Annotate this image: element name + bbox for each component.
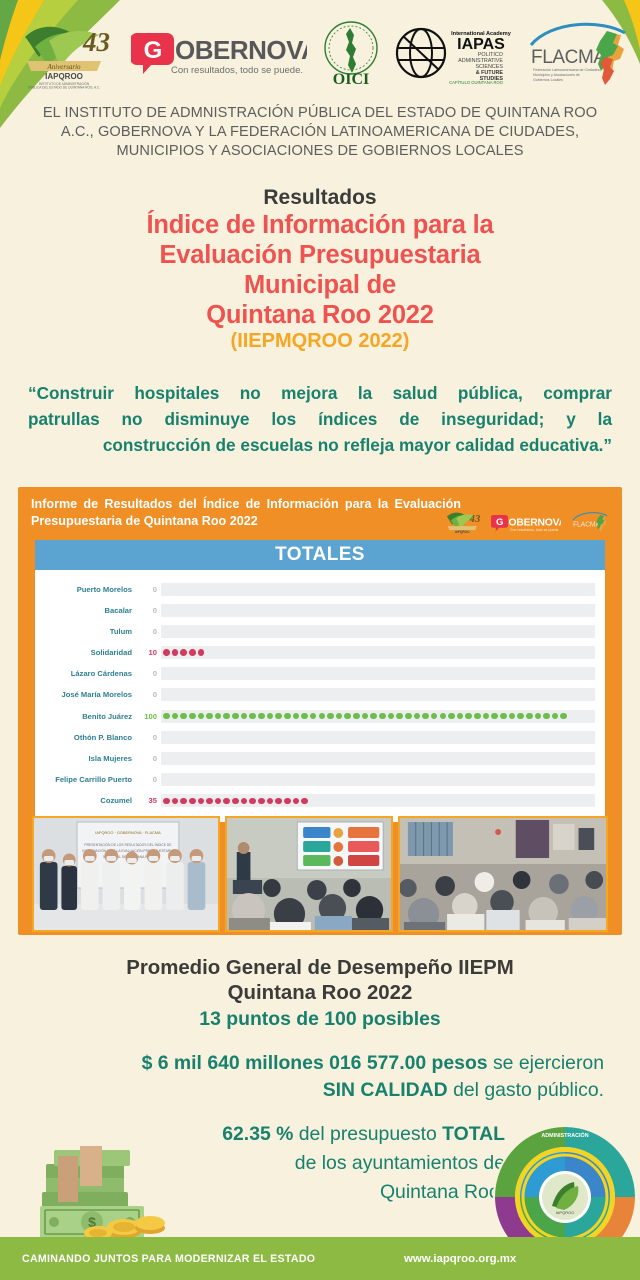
chart-row-label: Cozumel [41,796,139,805]
chart-row: Felipe Carrillo Puerto0 [41,771,595,789]
chart-dot [327,713,334,720]
chart-row-label: Othón P. Blanco [41,733,139,742]
svg-text:Aniversario: Aniversario [46,63,81,71]
chart-dot [172,649,179,656]
oici-logo: OICI [321,18,381,88]
chart-dot [465,713,472,720]
svg-text:IAPQROO: IAPQROO [45,72,83,81]
chart-row-dots [163,794,308,807]
chart-dot [215,798,222,805]
chart-row-track [161,752,595,765]
chart-dot [552,713,559,720]
report-card-header-text: Informe de Resultados del Índice de Info… [31,496,461,530]
chart-row-value: 0 [139,733,161,742]
chart-row-value: 0 [139,754,161,763]
dot-chart: Puerto Morelos0Bacalar0Tulum0Solidaridad… [35,570,605,822]
chart-row-track [161,773,595,786]
svg-text:OBERNOVA: OBERNOVA [509,517,562,528]
chart-row-label: Benito Juárez [41,712,139,721]
report-card-header: Informe de Resultados del Índice de Info… [21,490,619,540]
money-stack-icon: $ [28,1128,173,1248]
chart-row-label: Isla Mujeres [41,754,139,763]
chart-dot [431,713,438,720]
chart-dot [163,649,170,656]
percent-statement: 62.35 % del presupuesto TOTAL de los ayu… [150,1120,505,1207]
chart-row-label: José María Morelos [41,690,139,699]
chart-dot [284,798,291,805]
chart-row: Bacalar0 [41,601,595,619]
percent-value: 62.35 % [222,1123,293,1145]
chart-dot [198,649,205,656]
chart-dot [509,713,516,720]
photo-audience-seated [398,816,608,932]
chart-dot [336,713,343,720]
pull-quote: “Construir hospitales no mejora la salud… [28,380,612,458]
chart-row-label: Lázaro Cárdenas [41,669,139,678]
chart-dot [189,649,196,656]
chart-dot [232,798,239,805]
money-amount: $ 6 mil 640 millones 016 577.00 pesos [142,1052,488,1074]
chart-row-track [161,646,595,659]
svg-text:G: G [496,517,503,528]
percent-mid: del presupuesto [293,1123,442,1145]
chart-dot [526,713,533,720]
average-score: 13 puntos de 100 posibles [0,1006,640,1033]
chart-dot [206,713,213,720]
chart-row-label: Tulum [41,627,139,636]
chart-dot [344,713,351,720]
average-line-1: Promedio General de Desempeño IIEPM [0,956,640,981]
chart-row: Isla Mujeres0 [41,750,595,768]
chart-dot [267,798,274,805]
chart-dot [448,713,455,720]
quote-line-3: construcción de escuelas no refleja mayo… [28,432,612,458]
svg-text:43: 43 [469,514,481,525]
svg-text:IAPQROO · GOBERNOVA · FLACMA: IAPQROO · GOBERNOVA · FLACMA [95,830,161,835]
chart-dot [284,713,291,720]
percent-line-1: 62.35 % del presupuesto TOTAL [150,1120,505,1149]
footer-website[interactable]: www.iapqroo.org.mx [404,1253,516,1265]
chart-row-value: 0 [139,669,161,678]
chart-dot [388,713,395,720]
svg-text:FLACMA: FLACMA [531,47,606,68]
chart-row-value: 0 [139,585,161,594]
svg-text:G: G [144,37,163,64]
report-header-line-2: Presupuestaria de Quintana Roo 2022 [31,513,461,530]
chart-dot [180,649,187,656]
chart-rows-container: Puerto Morelos0Bacalar0Tulum0Solidaridad… [41,580,595,810]
chart-dot [215,713,222,720]
svg-text:IAPAS: IAPAS [457,36,505,53]
chart-row-value: 0 [139,690,161,699]
iapqroo-43-logo-small: 43 IAPQROO [439,508,483,538]
title-line-1: Índice de Información para la [0,210,640,240]
chart-row-label: Bacalar [41,606,139,615]
chart-row: Tulum0 [41,622,595,640]
chart-dot [275,713,282,720]
svg-text:PÚBLICA DEL ESTADO DE QUINTANA: PÚBLICA DEL ESTADO DE QUINTANA ROO, A.C. [28,85,100,90]
iapas-logo: International Academy IAPAS POLITICO ADM… [395,22,513,84]
totales-banner-label: TOTALES [275,544,365,566]
chart-dot [293,713,300,720]
chart-dot [422,713,429,720]
infographic-poster: 43 Aniversario IAPQROO INSTITUTO DE ADMI… [0,0,640,1280]
chart-dot [405,713,412,720]
photo-audience-presentation [225,816,393,932]
chart-row-label: Solidaridad [41,648,139,657]
flacma-logo-small: FLACMA [569,510,613,536]
svg-text:Municipios y Asociaciones de: Municipios y Asociaciones de [533,73,580,77]
chart-dot [172,713,179,720]
title-line-2: Evaluación Presupuestaria [0,240,640,270]
chart-dot [223,798,230,805]
svg-text:Gobiernos Locales: Gobiernos Locales [533,78,563,82]
chart-dot [163,713,170,720]
chart-row-track [161,731,595,744]
percent-line-2: de los ayuntamientos de [150,1149,505,1178]
chart-row-track [161,625,595,638]
chart-dot [258,713,265,720]
iapqroo-43-logo: 43 Aniversario IAPQROO INSTITUTO DE ADMI… [5,17,117,89]
svg-text:INFORMACIÓN PARA LA EVALUACIÓN: INFORMACIÓN PARA LA EVALUACIÓN PRESUPUES… [82,848,174,853]
event-photo-strip: IAPQROO · GOBERNOVA · FLACMA PRESENTACIÓ… [32,816,608,932]
chart-dot [301,713,308,720]
chart-dot [198,713,205,720]
money-quality: SIN CALIDAD [323,1079,448,1101]
chart-dot [370,713,377,720]
footer-bar: CAMINANDO JUNTOS PARA MODERNIZAR EL ESTA… [0,1237,640,1280]
percent-line-3: Quintana Roo. [150,1178,505,1207]
svg-text:IAPQROO: IAPQROO [556,1210,575,1215]
partner-logos-row: 43 Aniversario IAPQROO INSTITUTO DE ADMI… [0,14,640,92]
chart-dot [500,713,507,720]
chart-dot [440,713,447,720]
svg-text:CAPÍTULO QUINTANA ROO: CAPÍTULO QUINTANA ROO [449,80,504,84]
quote-line-1: “Construir hospitales no mejora la salud… [28,380,612,406]
money-line-2: SIN CALIDAD del gasto público. [36,1077,604,1104]
money-statement: $ 6 mil 640 millones 016 577.00 pesos se… [36,1050,604,1104]
chart-dot [474,713,481,720]
average-summary: Promedio General de Desempeño IIEPM Quin… [0,956,640,1033]
totales-banner: TOTALES [35,540,605,570]
svg-text:IAPQROO: IAPQROO [455,530,470,534]
chart-dot [362,713,369,720]
chart-dot [353,713,360,720]
svg-text:OBERNOVA: OBERNOVA [175,35,307,65]
chart-dot [206,798,213,805]
chart-dot [457,713,464,720]
report-header-line-1: Informe de Resultados del Índice de Info… [31,496,461,513]
chart-dot [189,798,196,805]
title-line-4: Quintana Roo 2022 [0,300,640,330]
title-line-3: Municipal de [0,270,640,300]
chart-dot [180,713,187,720]
chart-dot [275,798,282,805]
chart-row-dots [163,710,567,723]
title-acronym: (IIEPMQROO 2022) [0,330,640,353]
chart-row: Lázaro Cárdenas0 [41,665,595,683]
chart-dot [543,713,550,720]
chart-dot [379,713,386,720]
chart-dot [189,713,196,720]
photo-group-presentation: IAPQROO · GOBERNOVA · FLACMA PRESENTACIÓ… [32,816,220,932]
gobernova-logo-small: G OBERNOVA Con resultados, todo se puede… [491,512,561,534]
chart-row-label: Felipe Carrillo Puerto [41,775,139,784]
svg-text:OICI: OICI [333,71,369,88]
chart-dot [535,713,542,720]
average-line-2: Quintana Roo 2022 [0,981,640,1006]
chart-dot [319,713,326,720]
chart-dot [232,713,239,720]
quote-line-2: patrullas no disminuye los índices de in… [28,406,612,432]
chart-dot [483,713,490,720]
chart-dot [396,713,403,720]
chart-dot [241,713,248,720]
svg-text:Con resultados, todo se puede.: Con resultados, todo se puede. [510,528,560,532]
svg-text:FLACMA: FLACMA [573,522,601,529]
page-title: Índice de Información para la Evaluación… [0,210,640,330]
report-card-header-logos: 43 IAPQROO G OBERNOVA Con resultados, to… [439,508,613,538]
svg-text:PRESENTACIÓN DE LOS RESULTADOS: PRESENTACIÓN DE LOS RESULTADOS DEL ÍNDIC… [84,842,172,847]
chart-dot [310,713,317,720]
svg-text:Federación Latinoamericana de: Federación Latinoamericana de Ciudades, [533,68,601,72]
chart-row-value: 35 [139,796,161,805]
chart-row: Benito Juárez100 [41,707,595,725]
chart-row: José María Morelos0 [41,686,595,704]
chart-dot [301,798,308,805]
chart-row-value: 0 [139,606,161,615]
chart-dot [258,798,265,805]
chart-row: Solidaridad10 [41,644,595,662]
money-quality-rest: del gasto público. [448,1079,604,1101]
chart-dot [414,713,421,720]
chart-row-track [161,583,595,596]
chart-row-dots [163,646,204,659]
chart-dot [223,713,230,720]
chart-row: Puerto Morelos0 [41,580,595,598]
chart-dot [163,798,170,805]
chart-row-track [161,604,595,617]
chart-row-track [161,667,595,680]
chart-row-value: 0 [139,775,161,784]
chart-row-value: 10 [139,648,161,657]
chart-dot [241,798,248,805]
chart-row: Othón P. Blanco0 [41,728,595,746]
svg-text:ADMINISTRACIÓN: ADMINISTRACIÓN [541,1131,588,1139]
title-kicker: Resultados [0,186,640,210]
chart-row-track [161,688,595,701]
chart-dot [517,713,524,720]
svg-text:43: 43 [82,27,110,57]
chart-dot [560,713,567,720]
chart-row-label: Puerto Morelos [41,585,139,594]
flacma-logo: FLACMA Federación Latinoamericana de Ciu… [527,17,635,89]
chart-dot [180,798,187,805]
intro-paragraph: EL INSTITUTO DE ADMNISTRACIÓN PÚBLICA DE… [40,104,600,161]
chart-dot [249,798,256,805]
chart-row-value: 100 [139,712,161,721]
chart-dot [293,798,300,805]
svg-text:Con resultados, todo se puede.: Con resultados, todo se puede. [171,65,303,76]
chart-row-track [161,710,595,723]
footer-slogan: CAMINANDO JUNTOS PARA MODERNIZAR EL ESTA… [22,1253,315,1265]
chart-row-track [161,794,595,807]
chart-row: Cozumel35 [41,792,595,810]
money-line-1: $ 6 mil 640 millones 016 577.00 pesos se… [36,1050,604,1077]
chart-dot [198,798,205,805]
chart-dot [491,713,498,720]
chart-dot [267,713,274,720]
chart-dot [172,798,179,805]
chart-dot [249,713,256,720]
money-rest: se ejercieron [488,1052,604,1074]
gobernova-logo: G OBERNOVA Con resultados, todo se puede… [131,27,307,79]
chart-row-value: 0 [139,627,161,636]
